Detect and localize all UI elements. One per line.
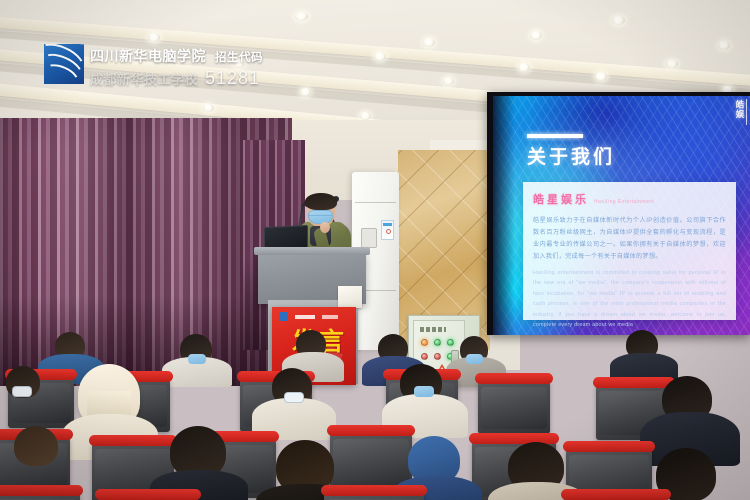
audience-seat: [478, 378, 550, 434]
sponsor-badge-icon: [279, 312, 288, 321]
projection-screen: 关于我们 皓星娱乐 HaoXing Entertainment 皓星娱乐致力于在…: [493, 96, 750, 335]
audience-area: [0, 330, 750, 500]
slide-content-card: 皓星娱乐 HaoXing Entertainment 皓星娱乐致力于在自媒体新时…: [523, 182, 736, 320]
ceiling-downlight: [360, 112, 371, 120]
ceiling-downlight: [443, 77, 454, 85]
slide-brand-heading: 皓星娱乐 HaoXing Entertainment: [533, 191, 726, 207]
podium-top-surface: [254, 247, 370, 255]
ceiling-downlight: [423, 38, 435, 47]
audience-seat: [0, 490, 80, 500]
slide-body-cn: 皓星娱乐致力于在自媒体新时代为个人IP创造价值。公司旗下合作数名百万粉丝级网主，…: [533, 215, 726, 263]
ac-seam: [355, 202, 396, 203]
audience-seat: [564, 494, 668, 500]
ceiling-downlight: [203, 104, 214, 112]
energy-label-bar: [383, 223, 392, 226]
ceiling-downlight: [530, 31, 542, 40]
audience-face-mask: [12, 386, 32, 397]
audience-face-mask: [414, 386, 434, 397]
energy-label-icon: [381, 220, 394, 240]
slide-body-en: HaoXing entertainment is committed to cr…: [533, 268, 726, 332]
speaker-hand: [320, 222, 330, 233]
ceiling-downlight: [374, 52, 386, 61]
ceiling-downlight: [148, 33, 160, 42]
audience-face-mask: [284, 392, 304, 403]
audience-seat: [324, 490, 424, 500]
slide-brand-en: HaoXing Entertainment: [594, 199, 654, 205]
slide-title: 关于我们: [527, 142, 615, 169]
projection-screen-frame: 关于我们 皓星娱乐 HaoXing Entertainment 皓星娱乐致力于在…: [487, 92, 750, 335]
audience-face-mask: [188, 354, 206, 364]
ceiling-downlight: [612, 16, 625, 25]
sponsor-wordmark-icon: [295, 315, 315, 319]
banner-sponsor-logos: [279, 312, 338, 321]
audience-face-mask: [466, 354, 483, 364]
ceiling-downlight: [666, 60, 678, 68]
slide-side-vertical-text: 皓娱: [733, 100, 746, 119]
speaker-face-mask: [308, 210, 333, 224]
ceiling-downlight: [295, 12, 308, 21]
ceiling-downlight: [518, 63, 530, 72]
ac-vent: [361, 228, 377, 248]
speaker-hair: [305, 193, 337, 210]
podium-papers: [338, 286, 362, 308]
screen-left-shadow: [493, 96, 515, 335]
slide-brand-cn: 皓星娱乐: [533, 191, 589, 207]
ceiling-downlight: [718, 41, 730, 50]
ceiling-downlight: [233, 59, 245, 68]
audience-head: [14, 426, 58, 466]
slide-title-rule: [527, 134, 583, 138]
auditorium-photo-scene: 关于我们 皓星娱乐 HaoXing Entertainment 皓星娱乐致力于在…: [0, 0, 750, 500]
slide-side-rule: [746, 99, 747, 125]
sponsor-wordmark-icon: [322, 315, 338, 319]
ceiling-downlight: [595, 72, 607, 81]
audience-seat: [98, 494, 198, 500]
energy-label-dot: [386, 229, 391, 234]
ceiling-downlight: [300, 88, 311, 96]
speaker-face-mask-fold: [309, 215, 332, 216]
